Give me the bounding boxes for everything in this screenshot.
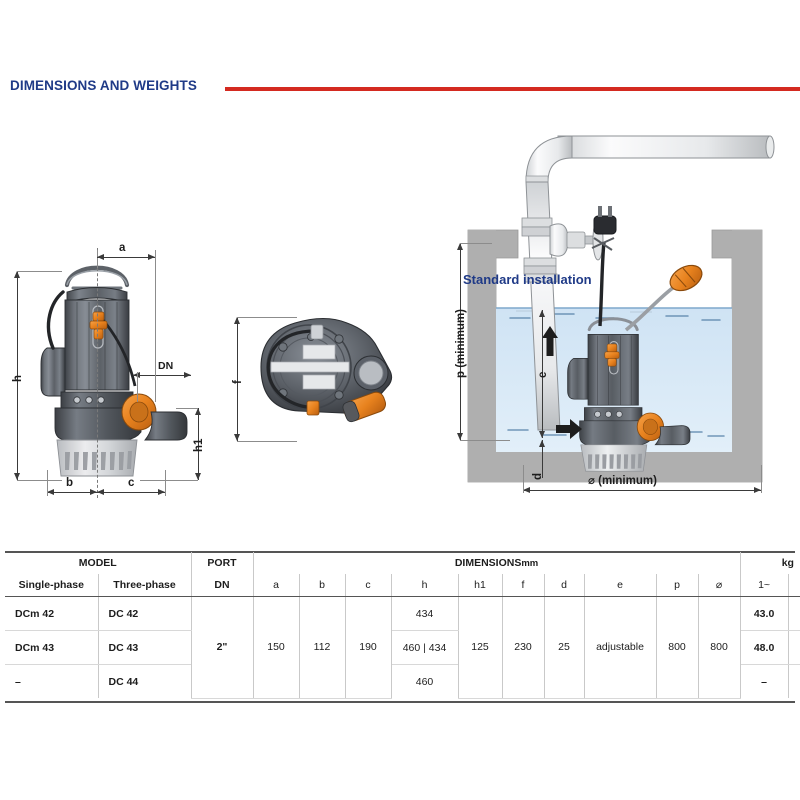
cell-h: 460 | 434: [391, 631, 458, 665]
dim-label-h1: h1: [193, 439, 205, 452]
section-header: DIMENSIONS AND WEIGHTS: [0, 78, 800, 110]
dim-e-arrow-top: [539, 310, 545, 317]
dim-a-line: [97, 257, 155, 258]
front-view-centerline: [97, 248, 98, 498]
cell-kg-1ph: 48.0: [740, 631, 788, 665]
cell-h: 434: [391, 597, 458, 631]
dim-a-arrow-left: [97, 254, 104, 260]
dim-h1-arrow-bottom: [195, 473, 201, 480]
cell-kg-1ph: –: [740, 665, 788, 699]
dim-dn-ext-right: [155, 360, 156, 402]
subheader-kg-3ph: 3~: [788, 574, 800, 597]
dim-p-ext-top: [460, 243, 492, 244]
submersible-pump-top-view: [243, 305, 403, 445]
dim-h1-ext-top: [176, 408, 198, 409]
header-kg: kg: [740, 552, 800, 574]
header-model: MODEL: [5, 552, 191, 574]
cell-dn: 2": [191, 597, 253, 699]
dim-d-arrow-top: [539, 440, 545, 447]
cell-single-phase: DCm 42: [5, 597, 98, 631]
table-bottom-border: [5, 701, 795, 703]
cell-h1: 125: [458, 597, 502, 699]
dim-p-ext-bottom: [460, 440, 510, 441]
header-dimensions-text: DIMENSIONS: [455, 557, 522, 569]
dim-h-ext-bottom: [17, 480, 62, 481]
cell-b: 112: [299, 597, 345, 699]
subheader-d: d: [544, 574, 584, 597]
dim-diameter-ext-right: [761, 465, 762, 493]
cell-f: 230: [502, 597, 544, 699]
dim-h-ext-top: [17, 271, 62, 272]
dim-label-dn: DN: [158, 360, 173, 372]
table-row: DCm 42 DC 42 2" 150 112 190 434 125 230 …: [5, 597, 800, 631]
subheader-three-phase: Three-phase: [98, 574, 191, 597]
dim-label-d: d: [532, 473, 544, 480]
cell-kg-3ph: 47.0: [788, 665, 800, 699]
cell-kg-3ph: 42.0: [788, 631, 800, 665]
dim-h1-ext-bottom: [140, 480, 198, 481]
dim-e-arrow-bottom: [539, 431, 545, 438]
subheader-h1: h1: [458, 574, 502, 597]
header-port: PORT: [191, 552, 253, 574]
dim-p-arrow-top: [457, 243, 463, 250]
dim-label-p: p (minimum): [455, 309, 467, 378]
header-dimensions: DIMENSIONSmm: [253, 552, 740, 574]
dim-b-arrow-right: [90, 489, 97, 495]
dim-label-h: h: [12, 375, 24, 382]
dim-c-arrow-right: [158, 489, 165, 495]
installation-title: Standard installation: [463, 272, 592, 287]
dim-c-line: [97, 492, 165, 493]
dim-h-arrow-top: [14, 271, 20, 278]
page-title: DIMENSIONS AND WEIGHTS: [10, 78, 197, 93]
cell-three-phase: DC 42: [98, 597, 191, 631]
cell-kg-1ph: 43.0: [740, 597, 788, 631]
dim-f-line: [237, 317, 238, 441]
dimensions-weights-table: MODEL PORT DIMENSIONSmm kg Single-phase …: [5, 552, 800, 699]
subheader-f: f: [502, 574, 544, 597]
subheader-e: e: [584, 574, 656, 597]
dim-c-ext-right: [165, 470, 166, 496]
dim-h-arrow-bottom: [14, 473, 20, 480]
dim-b-ext-left: [47, 470, 48, 496]
subheader-diameter: ⌀: [698, 574, 740, 597]
dim-diameter-line: [523, 490, 761, 491]
cell-diameter: 800: [698, 597, 740, 699]
dim-a-ext-right: [155, 250, 156, 360]
cell-d: 25: [544, 597, 584, 699]
cell-kg-3ph: 41.0: [788, 597, 800, 631]
subheader-c: c: [345, 574, 391, 597]
dim-label-e: e: [537, 372, 549, 378]
subheader-b: b: [299, 574, 345, 597]
dim-label-b: b: [66, 477, 73, 489]
dim-label-a: a: [119, 242, 125, 254]
cell-a: 150: [253, 597, 299, 699]
dim-diameter-arrow-left: [523, 487, 530, 493]
dim-f-arrow-bottom: [234, 434, 240, 441]
table-sub-header-row: Single-phase Three-phase DN a b c h h1 f…: [5, 574, 800, 597]
cell-e: adjustable: [584, 597, 656, 699]
cell-h: 460: [391, 665, 458, 699]
dim-label-diameter: ⌀ (minimum): [588, 473, 657, 487]
cell-three-phase: DC 44: [98, 665, 191, 699]
dim-dn-arrow-right: [184, 372, 191, 378]
dim-a-arrow-right: [148, 254, 155, 260]
dim-p-arrow-bottom: [457, 433, 463, 440]
header-dimensions-unit: mm: [521, 558, 538, 569]
standard-installation-diagram: [430, 130, 800, 530]
cell-c: 190: [345, 597, 391, 699]
header-red-rule: [225, 87, 800, 91]
dim-f-ext-bottom: [237, 441, 297, 442]
technical-drawings-area: a h DN h1 b c: [0, 120, 800, 545]
dim-dn-ext-left: [137, 372, 138, 402]
subheader-dn: DN: [191, 574, 253, 597]
table-group-header-row: MODEL PORT DIMENSIONSmm kg: [5, 552, 800, 574]
dim-b-arrow-left: [47, 489, 54, 495]
cell-p: 800: [656, 597, 698, 699]
subheader-a: a: [253, 574, 299, 597]
dim-label-c: c: [128, 477, 134, 489]
cell-single-phase: –: [5, 665, 98, 699]
subheader-h: h: [391, 574, 458, 597]
dim-f-ext-top: [237, 317, 297, 318]
subheader-kg-1ph: 1~: [740, 574, 788, 597]
dim-diameter-ext-left: [523, 465, 524, 493]
subheader-single-phase: Single-phase: [5, 574, 98, 597]
cell-three-phase: DC 43: [98, 631, 191, 665]
dim-label-f: f: [232, 380, 244, 384]
dim-f-arrow-top: [234, 317, 240, 324]
dim-dn-line: [133, 375, 191, 376]
dim-c-arrow-left: [97, 489, 104, 495]
cell-single-phase: DCm 43: [5, 631, 98, 665]
dim-h1-arrow-top: [195, 408, 201, 415]
subheader-p: p: [656, 574, 698, 597]
dim-diameter-arrow-right: [754, 487, 761, 493]
